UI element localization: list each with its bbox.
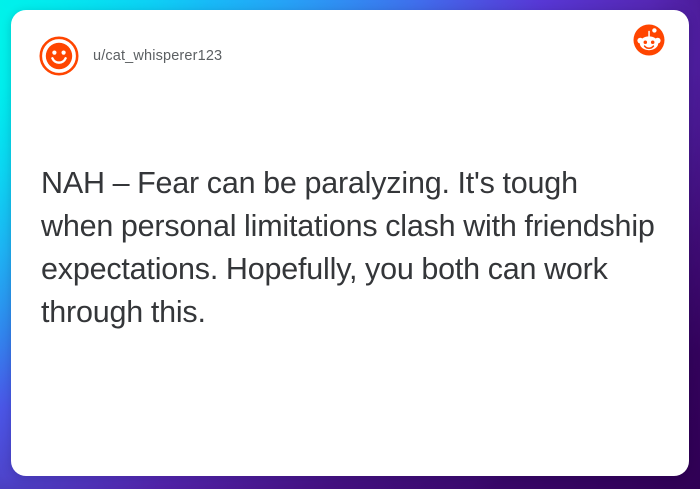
username-label[interactable]: u/cat_whisperer123: [93, 48, 222, 64]
reddit-snoo-logo-icon[interactable]: [631, 22, 667, 58]
card-header: u/cat_whisperer123: [39, 33, 667, 79]
post-body-text: NAH – Fear can be paralyzing. It's tough…: [41, 162, 657, 334]
reddit-comment-card: u/cat_whisperer123 NAH – Fear can be par…: [11, 10, 689, 476]
smiley-face-avatar-icon[interactable]: [39, 36, 79, 76]
screenshot-stage: u/cat_whisperer123 NAH – Fear can be par…: [0, 0, 700, 489]
